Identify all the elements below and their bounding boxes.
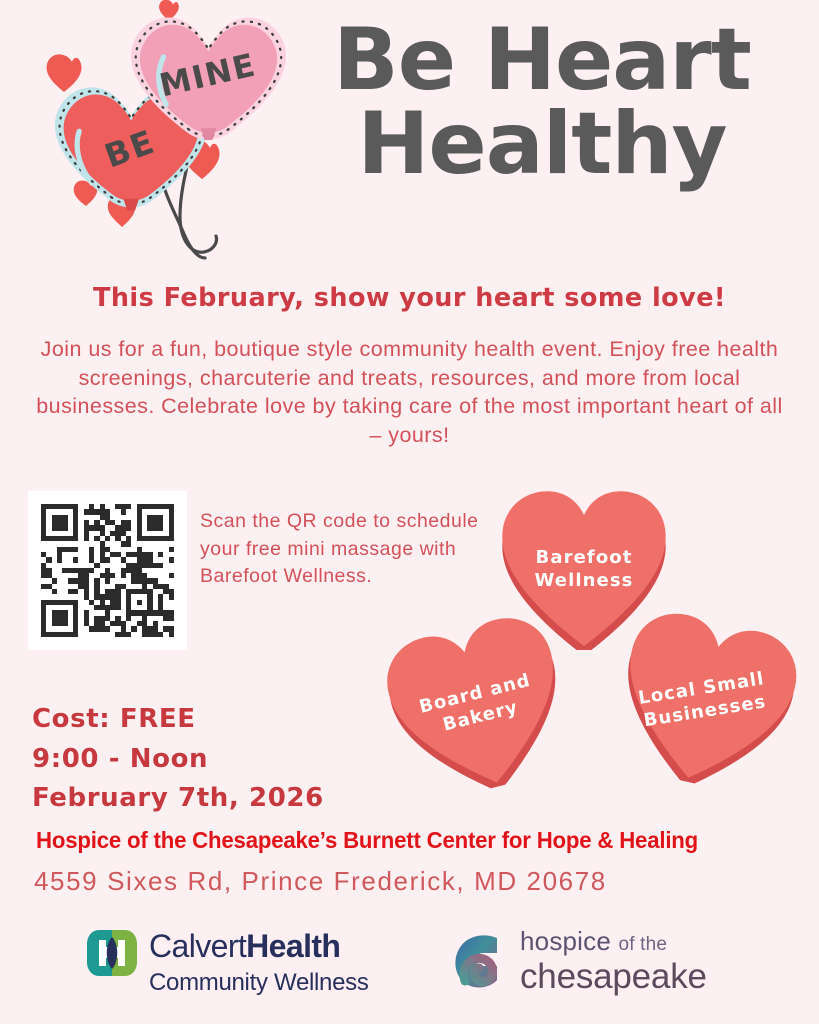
calverthealth-mark-icon [86, 928, 138, 978]
detail-address: 4559 Sixes Rd, Prince Frederick, MD 2067… [34, 866, 607, 897]
qr-code-modules [41, 504, 174, 637]
hospice-word-ofthe: of the [618, 934, 667, 955]
hospice-name-line-2: chesapeake [520, 959, 707, 994]
title-line-2: Healthy [282, 102, 802, 186]
calverthealth-name-light: Calvert [149, 928, 246, 964]
detail-time: 9:00 - Noon [32, 740, 324, 780]
detail-venue: Hospice of the Chesapeake’s Burnett Cent… [36, 827, 698, 854]
calverthealth-name: CalvertHealth [149, 930, 369, 962]
detail-cost: Cost: FREE [32, 700, 324, 740]
calverthealth-wordmark: CalvertHealth Community Wellness [149, 930, 369, 995]
partner-logos: CalvertHealth Community Wellness [0, 920, 819, 1020]
flyer-page: BE MINE Be Heart Healthy This February, … [0, 0, 819, 1024]
candy-heart-local-small-businesses: Local Small Businesses [601, 599, 810, 802]
hospice-swirl-icon [452, 932, 510, 990]
qr-code[interactable] [28, 491, 187, 650]
hospice-name-line-1: hospice of the [520, 928, 707, 954]
calverthealth-logo: CalvertHealth Community Wellness [86, 928, 369, 995]
heart-balloons-illustration: BE MINE [28, 0, 298, 271]
page-title: Be Heart Healthy [282, 18, 802, 187]
calverthealth-tagline: Community Wellness [149, 971, 369, 995]
title-line-1: Be Heart [282, 18, 802, 102]
hospice-of-the-chesapeake-logo: hospice of the chesapeake [452, 928, 707, 994]
qr-caption: Scan the QR code to schedule your free m… [200, 508, 490, 591]
subtitle: This February, show your heart some love… [0, 283, 819, 313]
detail-date: February 7th, 2026 [32, 779, 324, 819]
event-details: Cost: FREE 9:00 - Noon February 7th, 202… [32, 700, 324, 819]
candy-heart-shape [602, 599, 811, 801]
body-paragraph: Join us for a fun, boutique style commun… [28, 335, 791, 449]
hospice-wordmark: hospice of the chesapeake [520, 928, 707, 994]
calverthealth-name-bold: Health [246, 928, 340, 964]
hospice-word-hospice: hospice [520, 926, 618, 956]
